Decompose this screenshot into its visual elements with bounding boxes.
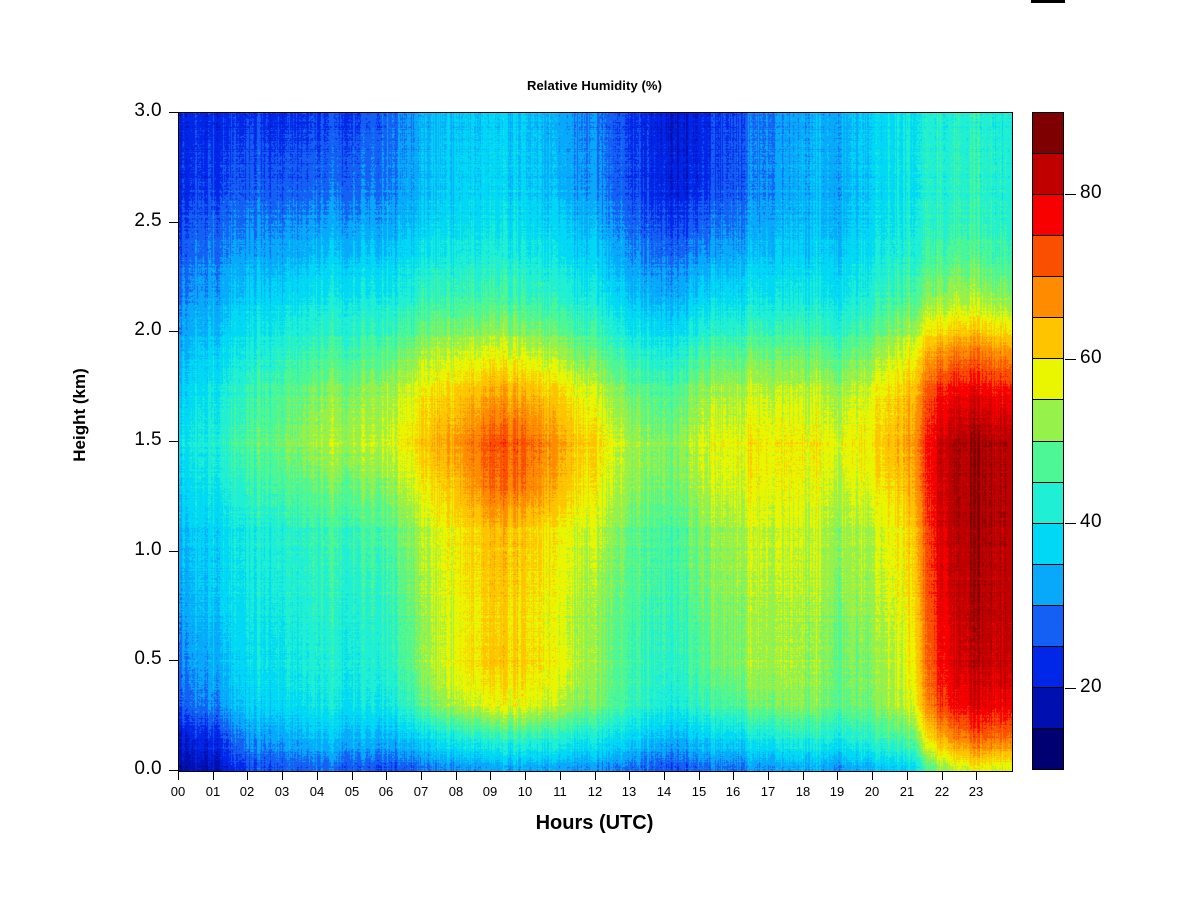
colorbar-band (1033, 154, 1063, 195)
x-tick (872, 771, 873, 780)
x-tick-label: 15 (682, 784, 716, 799)
y-tick-label: 0.0 (110, 758, 162, 780)
frame-mark-icon (1031, 0, 1065, 3)
y-tick-label: 1.0 (110, 539, 162, 561)
y-tick-label: 2.0 (110, 319, 162, 341)
x-tick-label: 20 (855, 784, 889, 799)
x-axis-title: Hours (UTC) (178, 812, 1011, 835)
x-tick (247, 771, 248, 780)
x-tick-label: 03 (265, 784, 299, 799)
colorbar-band (1033, 318, 1063, 359)
x-tick (976, 771, 977, 780)
colorbar-band (1033, 400, 1063, 441)
y-tick (169, 112, 178, 113)
colorbar (1032, 112, 1064, 770)
x-tick (421, 771, 422, 780)
x-tick (803, 771, 804, 780)
colorbar-band (1033, 359, 1063, 400)
colorbar-tick-label: 20 (1080, 676, 1102, 698)
x-tick-label: 08 (439, 784, 473, 799)
x-tick-label: 17 (751, 784, 785, 799)
x-tick (317, 771, 318, 780)
colorbar-tick (1065, 359, 1076, 360)
x-tick (178, 771, 179, 780)
colorbar-band (1033, 647, 1063, 688)
y-tick (169, 331, 178, 332)
colorbar-tick (1065, 194, 1076, 195)
y-tick-label: 2.5 (110, 210, 162, 232)
x-tick-label: 01 (196, 784, 230, 799)
x-tick-label: 21 (890, 784, 924, 799)
x-tick-label: 23 (959, 784, 993, 799)
figure-canvas: Relative Humidity (%) 0.00.51.01.52.02.5… (0, 0, 1200, 900)
x-tick (664, 771, 665, 780)
heatmap-canvas (179, 113, 1012, 771)
x-tick (595, 771, 596, 780)
x-tick-label: 14 (647, 784, 681, 799)
y-tick-label: 3.0 (110, 100, 162, 122)
x-tick (352, 771, 353, 780)
x-tick (768, 771, 769, 780)
colorbar-band (1033, 524, 1063, 565)
x-tick (907, 771, 908, 780)
x-tick (837, 771, 838, 780)
page-title: Relative Humidity (%) (178, 78, 1011, 93)
x-tick (490, 771, 491, 780)
colorbar-band (1033, 442, 1063, 483)
x-tick-label: 19 (820, 784, 854, 799)
y-tick-label: 1.5 (110, 429, 162, 451)
x-tick (560, 771, 561, 780)
x-tick (629, 771, 630, 780)
colorbar-band (1033, 236, 1063, 277)
x-tick-label: 06 (369, 784, 403, 799)
x-tick-label: 22 (925, 784, 959, 799)
x-tick-label: 05 (335, 784, 369, 799)
colorbar-band (1033, 729, 1063, 769)
colorbar-band (1033, 195, 1063, 236)
y-tick-label: 0.5 (110, 648, 162, 670)
x-tick (942, 771, 943, 780)
colorbar-band (1033, 606, 1063, 647)
y-tick (169, 770, 178, 771)
x-tick-label: 04 (300, 784, 334, 799)
x-tick (282, 771, 283, 780)
y-tick (169, 441, 178, 442)
x-tick (699, 771, 700, 780)
y-axis-title: Height (km) (70, 325, 90, 505)
x-tick-label: 00 (161, 784, 195, 799)
x-tick-label: 02 (230, 784, 264, 799)
x-tick (213, 771, 214, 780)
x-tick (525, 771, 526, 780)
y-tick (169, 222, 178, 223)
colorbar-band (1033, 688, 1063, 729)
heatmap-plot-area (178, 112, 1013, 772)
colorbar-tick-label: 80 (1080, 182, 1102, 204)
colorbar-tick (1065, 688, 1076, 689)
colorbar-band (1033, 483, 1063, 524)
x-tick-label: 13 (612, 784, 646, 799)
x-tick (733, 771, 734, 780)
colorbar-band (1033, 565, 1063, 606)
x-tick-label: 16 (716, 784, 750, 799)
colorbar-band (1033, 113, 1063, 154)
x-tick-label: 09 (473, 784, 507, 799)
x-tick-label: 12 (578, 784, 612, 799)
x-tick (456, 771, 457, 780)
colorbar-tick-label: 60 (1080, 347, 1102, 369)
colorbar-tick-label: 40 (1080, 511, 1102, 533)
colorbar-band (1033, 277, 1063, 318)
x-tick-label: 18 (786, 784, 820, 799)
x-tick-label: 07 (404, 784, 438, 799)
x-tick-label: 11 (543, 784, 577, 799)
x-tick (386, 771, 387, 780)
x-tick-label: 10 (508, 784, 542, 799)
y-tick (169, 660, 178, 661)
y-tick (169, 551, 178, 552)
colorbar-tick (1065, 523, 1076, 524)
